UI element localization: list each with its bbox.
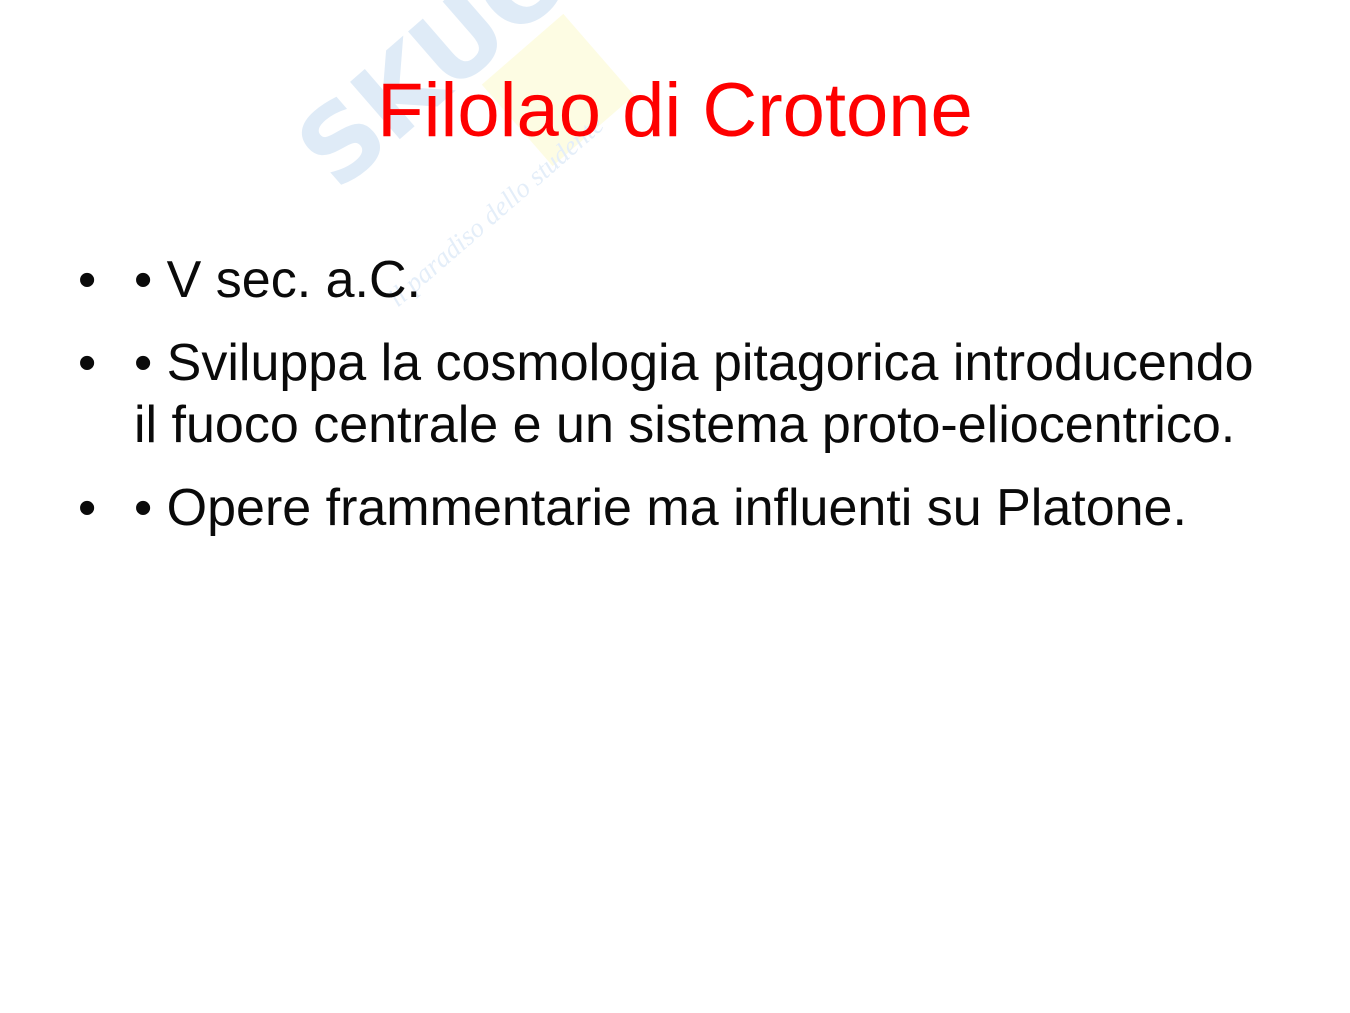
list-item-text: • V sec. a.C. (134, 250, 1268, 311)
list-item-text: • Sviluppa la cosmologia pitagorica intr… (134, 333, 1268, 456)
bullet-point-icon: • (78, 478, 118, 539)
presentation-slide: SKUOLA.net il paradiso dello studente Fi… (0, 0, 1350, 1013)
bullet-point-icon: • (78, 250, 118, 311)
list-item: • • V sec. a.C. (78, 250, 1268, 311)
page-title: Filolao di Crotone (0, 73, 1350, 149)
list-item-text: • Opere frammentarie ma influenti su Pla… (134, 478, 1268, 539)
list-item: • • Opere frammentarie ma influenti su P… (78, 478, 1268, 539)
bullet-point-icon: • (78, 333, 118, 394)
list-item: • • Sviluppa la cosmologia pitagorica in… (78, 333, 1268, 456)
bullet-list: • • V sec. a.C. • • Sviluppa la cosmolog… (78, 250, 1268, 539)
